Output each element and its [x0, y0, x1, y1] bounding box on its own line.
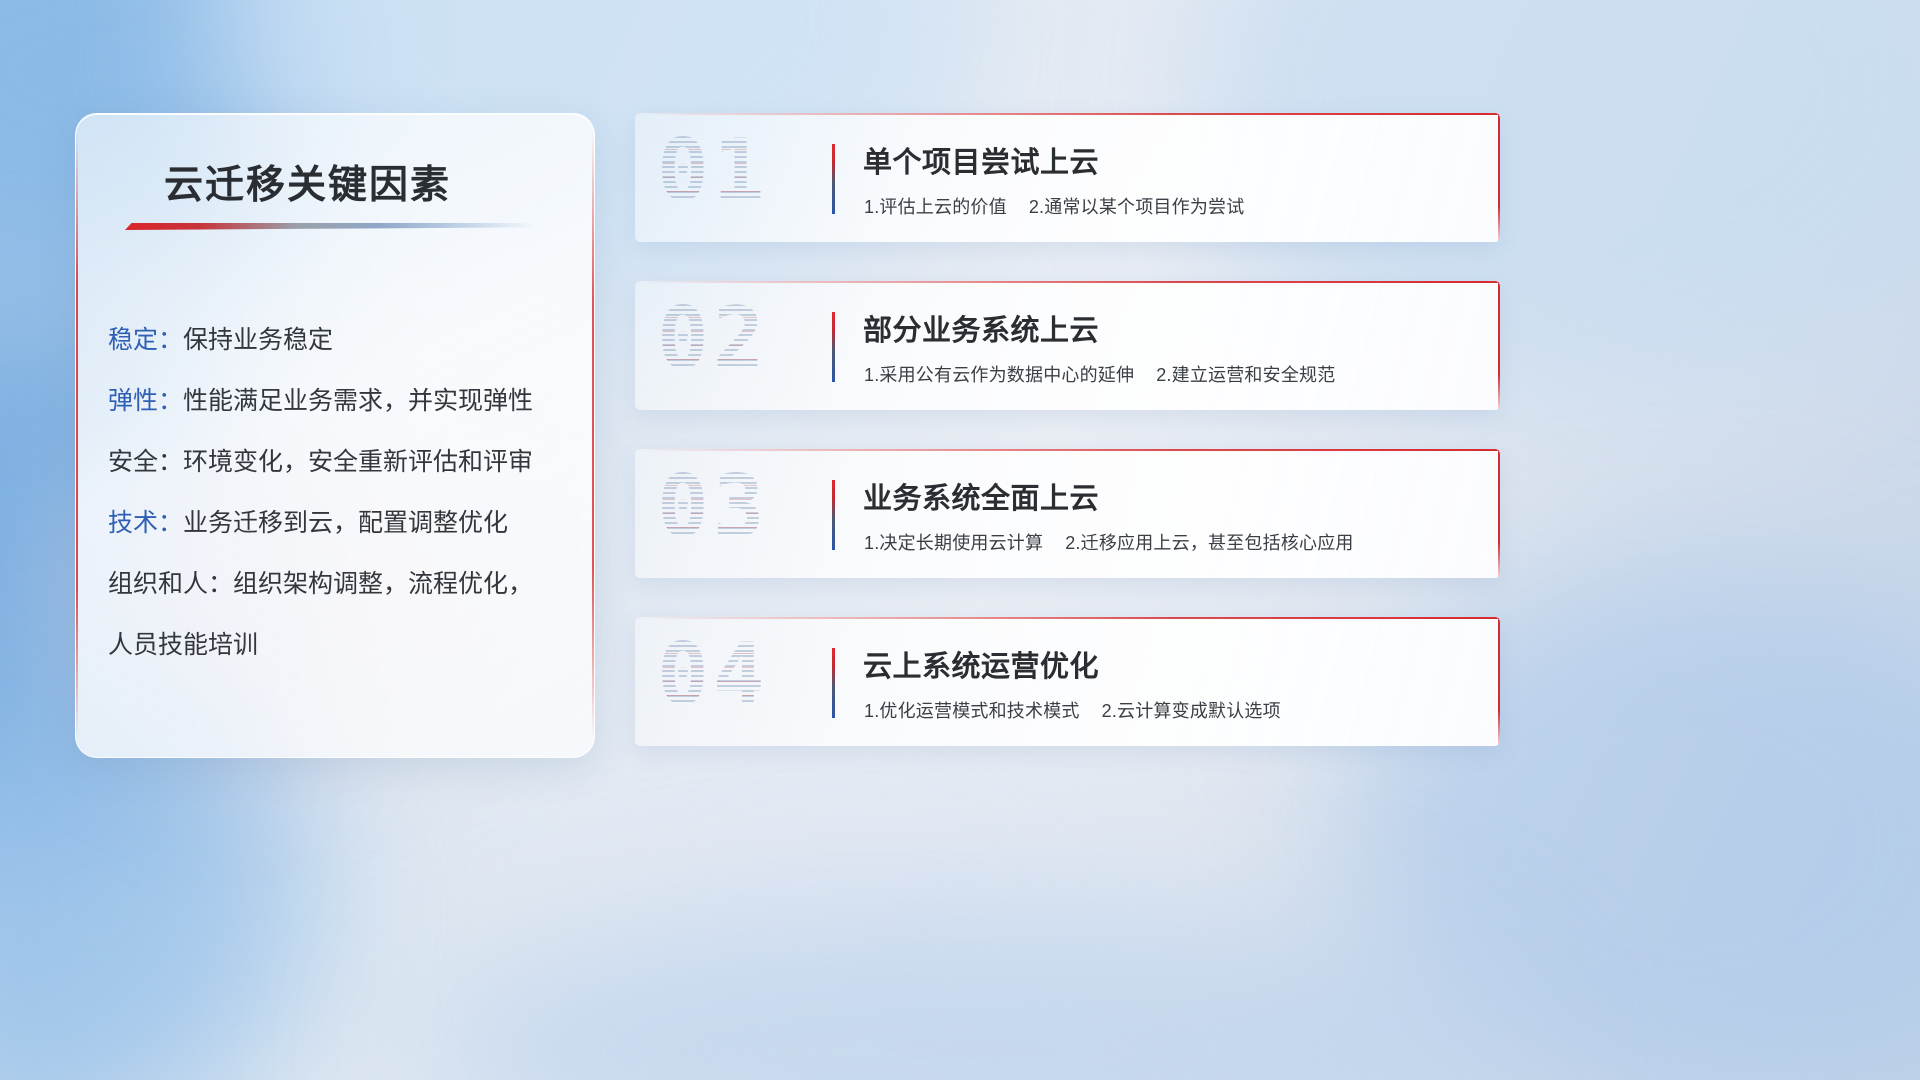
list-item-value: 环境变化，安全重新评估和评审 — [183, 448, 533, 476]
stage-number-ghost-red: 02 — [657, 289, 769, 389]
stage-point-1: 1.决定长期使用云计算 — [864, 533, 1043, 553]
stage-card-title: 单个项目尝试上云 — [863, 139, 1099, 181]
list-item: 技术：业务迁移到云，配置调整优化 — [108, 493, 570, 554]
stage-card[interactable]: 02 02 部分业务系统上云 1.采用公有云作为数据中心的延伸2.建立运营和安全… — [635, 281, 1500, 410]
stage-point-1: 1.评估上云的价值 — [864, 197, 1007, 217]
list-item-key: 组织和人： — [108, 570, 233, 598]
key-factors-list: 稳定：保持业务稳定 弹性：性能满足业务需求，并实现弹性 安全：环境变化，安全重新… — [108, 310, 570, 676]
stage-card-subtitle: 1.优化运营模式和技术模式2.云计算变成默认选项 — [864, 697, 1281, 723]
stage-card-subtitle: 1.采用公有云作为数据中心的延伸2.建立运营和安全规范 — [864, 361, 1335, 387]
stage-card-list: 01 01 单个项目尝试上云 1.评估上云的价值2.通常以某个项目作为尝试 02… — [635, 113, 1500, 785]
accent-bar — [832, 648, 835, 718]
list-item: 稳定：保持业务稳定 — [108, 310, 570, 371]
page-title: 云迁移关键因素 — [164, 154, 451, 210]
stage-number-ghost-red: 01 — [657, 121, 769, 221]
list-item-value: 保持业务稳定 — [183, 326, 333, 354]
list-item-value: 性能满足业务需求，并实现弹性 — [183, 387, 533, 415]
stage-number-ghost-red: 04 — [657, 625, 769, 725]
stage-card-subtitle: 1.决定长期使用云计算2.迁移应用上云，甚至包括核心应用 — [864, 529, 1354, 555]
accent-bar — [832, 312, 835, 382]
stage-number-ghost-red: 03 — [657, 457, 769, 557]
stage-point-1: 1.优化运营模式和技术模式 — [864, 701, 1080, 721]
stage-card-title: 云上系统运营优化 — [863, 643, 1099, 685]
stage-card[interactable]: 04 04 云上系统运营优化 1.优化运营模式和技术模式2.云计算变成默认选项 — [635, 617, 1500, 746]
list-item-key: 弹性： — [108, 387, 183, 415]
key-factors-panel: 云迁移关键因素 稳定：保持业务稳定 弹性：性能满足业务需求，并实现弹性 安全：环… — [75, 113, 595, 758]
stage-point-2: 2.迁移应用上云，甚至包括核心应用 — [1065, 533, 1353, 553]
list-item: 安全：环境变化，安全重新评估和评审 — [108, 432, 570, 493]
stage-point-1: 1.采用公有云作为数据中心的延伸 — [864, 365, 1134, 385]
list-item: 组织和人：组织架构调整，流程优化， — [108, 554, 570, 615]
accent-bar — [832, 480, 835, 550]
stage-point-2: 2.通常以某个项目作为尝试 — [1029, 197, 1245, 217]
title-underline-gradient — [125, 223, 535, 230]
stage-point-2: 2.云计算变成默认选项 — [1102, 701, 1281, 721]
list-item-key: 安全： — [108, 448, 183, 476]
list-item-key: 技术： — [108, 509, 183, 537]
stage-card-subtitle: 1.评估上云的价值2.通常以某个项目作为尝试 — [864, 193, 1244, 219]
list-item-continuation: 人员技能培训 — [108, 615, 570, 676]
stage-card[interactable]: 03 03 业务系统全面上云 1.决定长期使用云计算2.迁移应用上云，甚至包括核… — [635, 449, 1500, 578]
stage-card-title: 业务系统全面上云 — [863, 475, 1099, 517]
stage-point-2: 2.建立运营和安全规范 — [1156, 365, 1335, 385]
list-item-key: 稳定： — [108, 326, 183, 354]
list-item-value: 组织架构调整，流程优化， — [233, 570, 533, 598]
accent-bar — [832, 144, 835, 214]
list-item: 弹性：性能满足业务需求，并实现弹性 — [108, 371, 570, 432]
list-item-value: 业务迁移到云，配置调整优化 — [183, 509, 508, 537]
stage-card[interactable]: 01 01 单个项目尝试上云 1.评估上云的价值2.通常以某个项目作为尝试 — [635, 113, 1500, 242]
stage-card-title: 部分业务系统上云 — [863, 307, 1099, 349]
